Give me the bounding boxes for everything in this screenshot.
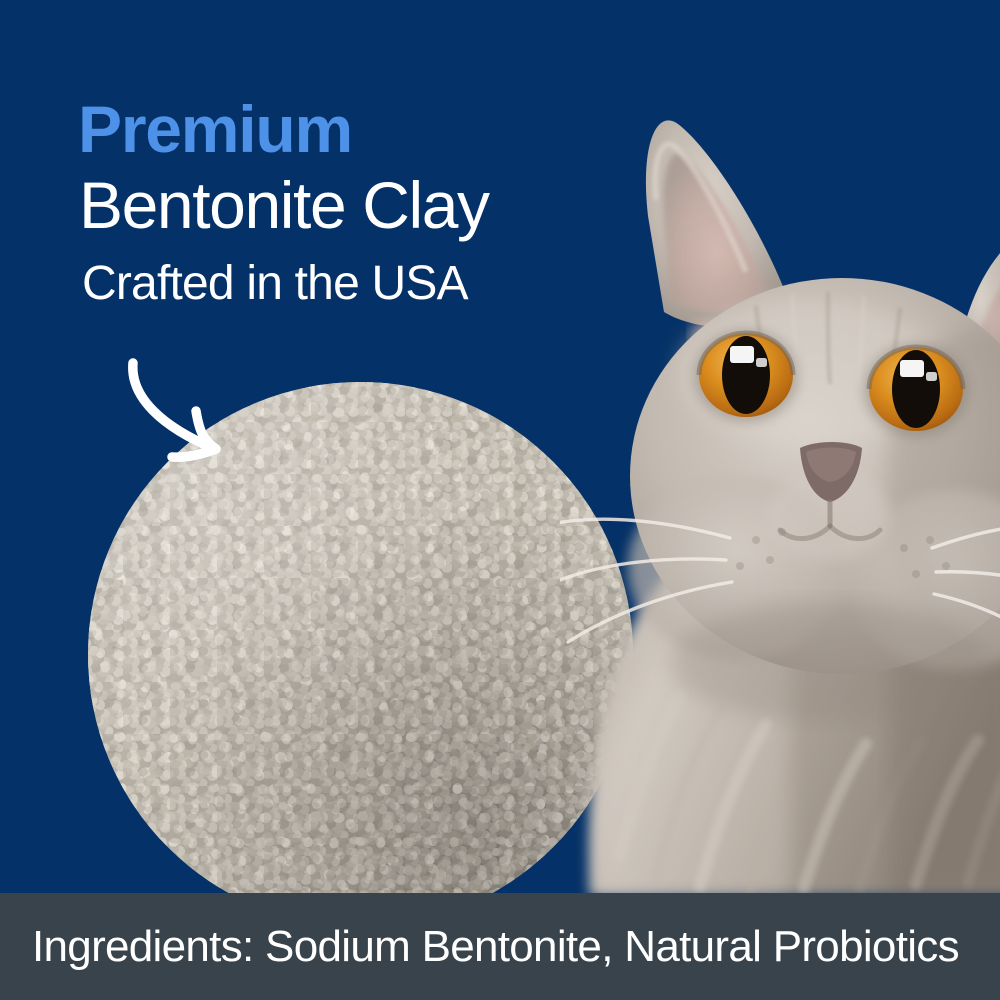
ingredients-text: Ingredients: Sodium Bentonite, Natural P… [32, 925, 959, 969]
headline-title: Bentonite Clay [79, 172, 678, 238]
curved-down-right-arrow-icon [110, 345, 260, 470]
headline-subtitle: Crafted in the USA [82, 260, 678, 308]
headline-accent-word: Premium [78, 96, 678, 162]
cat-left-eye [694, 330, 798, 422]
headline-block: Premium Bentonite Clay Crafted in the US… [78, 96, 678, 308]
ingredients-bar: Ingredients: Sodium Bentonite, Natural P… [0, 893, 1000, 1000]
cat-right-eye [864, 344, 968, 436]
product-marketing-image: Premium Bentonite Clay Crafted in the US… [0, 0, 1000, 1000]
